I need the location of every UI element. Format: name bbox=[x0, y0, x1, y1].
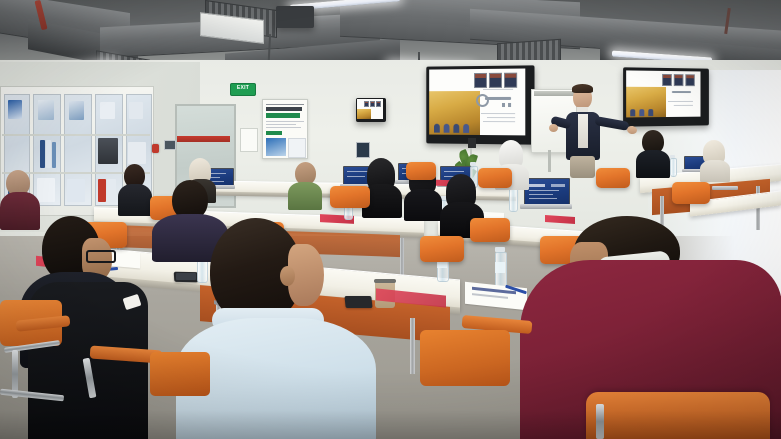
attendee-headscarf-back-right bbox=[700, 140, 730, 180]
chair[interactable] bbox=[420, 236, 464, 262]
shelf-brochure bbox=[98, 138, 118, 164]
chair[interactable] bbox=[406, 162, 436, 180]
floor-shadow bbox=[0, 410, 781, 439]
shelf-brochure bbox=[67, 179, 85, 202]
shelf-brochure bbox=[69, 101, 84, 120]
attendee-ear bbox=[280, 266, 295, 286]
table-leg bbox=[400, 238, 404, 278]
chair[interactable] bbox=[150, 352, 210, 396]
presentation-slide bbox=[429, 68, 525, 135]
slide-headshot bbox=[489, 73, 502, 88]
laptop[interactable] bbox=[712, 186, 738, 200]
shelf-brochure bbox=[38, 100, 54, 120]
shelf-brochure bbox=[46, 140, 51, 168]
presenter bbox=[551, 86, 647, 178]
shelf-brochure bbox=[8, 100, 22, 119]
slide-headshot bbox=[674, 74, 684, 86]
wall-frame bbox=[356, 142, 370, 158]
glasses-icon bbox=[86, 250, 116, 263]
exit-sign-label: EXIT bbox=[237, 85, 249, 91]
slide-headshots bbox=[474, 73, 517, 88]
attendee-foreground-blue-shirt bbox=[176, 218, 376, 439]
poster-heading bbox=[266, 107, 302, 111]
light-switch[interactable] bbox=[164, 140, 176, 150]
shelf-brochure bbox=[40, 140, 45, 168]
programme-poster bbox=[262, 99, 308, 159]
laptop[interactable] bbox=[524, 178, 568, 208]
attendee-green-shirt bbox=[288, 162, 322, 208]
shelf-brochure bbox=[52, 142, 56, 168]
shelf-brochure bbox=[128, 142, 146, 164]
slide-headshots bbox=[662, 74, 695, 86]
slide-headshot bbox=[662, 74, 672, 86]
display-mount bbox=[468, 138, 476, 148]
main-display bbox=[426, 65, 534, 144]
presenter-hand bbox=[549, 124, 558, 132]
table-leg bbox=[410, 318, 415, 374]
chair[interactable] bbox=[672, 182, 710, 204]
chair[interactable] bbox=[478, 168, 512, 188]
chair[interactable] bbox=[420, 330, 510, 386]
chair[interactable] bbox=[470, 218, 510, 242]
key-icon bbox=[476, 94, 489, 107]
presenter-hand bbox=[626, 125, 637, 135]
door-stripe bbox=[177, 136, 230, 142]
wall-notice bbox=[240, 128, 258, 152]
ceiling-monitor bbox=[276, 6, 314, 28]
slide-headshot bbox=[504, 73, 517, 88]
exit-sign: EXIT bbox=[230, 83, 256, 96]
slide-headshot bbox=[474, 73, 487, 88]
chair[interactable] bbox=[596, 168, 630, 188]
slide-headshot bbox=[685, 74, 694, 86]
chair[interactable] bbox=[330, 186, 370, 208]
shelf-brochure bbox=[100, 102, 115, 119]
attendee-woman-dark-top bbox=[118, 164, 152, 216]
poster-subheading bbox=[266, 113, 300, 118]
presenter-shirt-front bbox=[578, 114, 588, 148]
shelf-brochure bbox=[98, 179, 106, 202]
left-wall-monitor bbox=[356, 98, 386, 122]
presenter-hair bbox=[572, 84, 593, 93]
shelf-brochure bbox=[129, 102, 143, 119]
key-icon bbox=[672, 91, 691, 93]
presenter-trousers bbox=[570, 156, 595, 178]
water-bottle[interactable] bbox=[670, 158, 677, 177]
training-room-photo: EXIT bbox=[0, 0, 781, 439]
fire-alarm-call-point[interactable] bbox=[152, 144, 159, 153]
shelf-brochure bbox=[107, 179, 116, 202]
